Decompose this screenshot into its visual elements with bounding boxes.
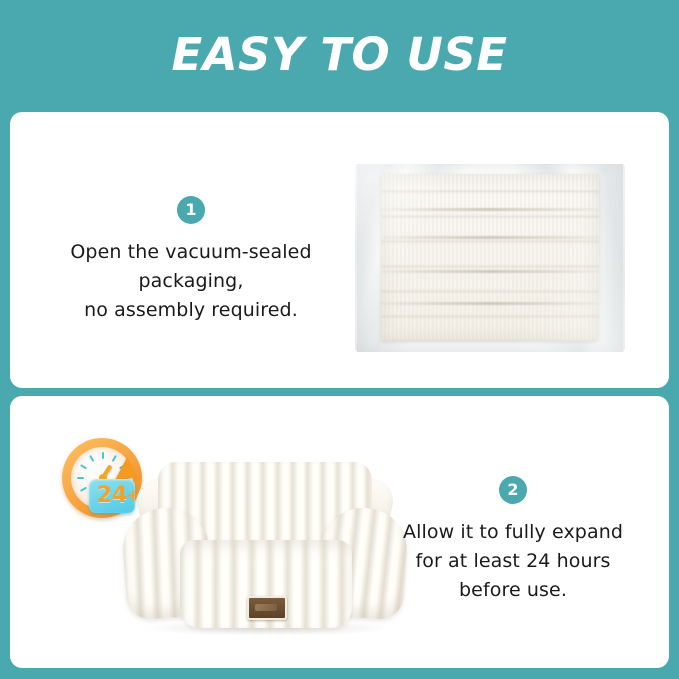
step-card-2: 24 + 2 Allow it to fully expand for at l…	[10, 396, 669, 668]
brand-leather-tag	[247, 596, 287, 620]
step-number-badge-2: 2	[499, 476, 527, 504]
step-number-badge-1: 1	[177, 196, 205, 224]
vacuum-sealed-package-photo	[355, 164, 625, 352]
step-2-text-block: 2 Allow it to fully expand for at least …	[368, 476, 658, 605]
step-1-line-1: Open the vacuum-sealed	[30, 238, 352, 267]
compressed-fabric	[381, 174, 599, 341]
step-2-description: Allow it to fully expand for at least 24…	[368, 518, 658, 605]
header-banner: EASY TO USE	[0, 0, 679, 112]
step-1-line-3: no assembly required.	[30, 296, 352, 325]
step-1-description: Open the vacuum-sealed packaging, no ass…	[30, 238, 352, 325]
promo-infographic-page: EASY TO USE 1 Open the vacuum-sealed pac…	[0, 0, 679, 679]
step-2-line-2: for at least 24 hours	[368, 547, 658, 576]
step-2-line-1: Allow it to fully expand	[368, 518, 658, 547]
step-2-line-3: before use.	[368, 576, 658, 605]
page-title: EASY TO USE	[171, 32, 507, 77]
step-card-1: 1 Open the vacuum-sealed packaging, no a…	[10, 112, 669, 388]
step-1-text-block: 1 Open the vacuum-sealed packaging, no a…	[30, 196, 352, 325]
step-1-line-2: packaging,	[30, 267, 352, 296]
pet-sofa-bed-photo	[120, 456, 410, 642]
